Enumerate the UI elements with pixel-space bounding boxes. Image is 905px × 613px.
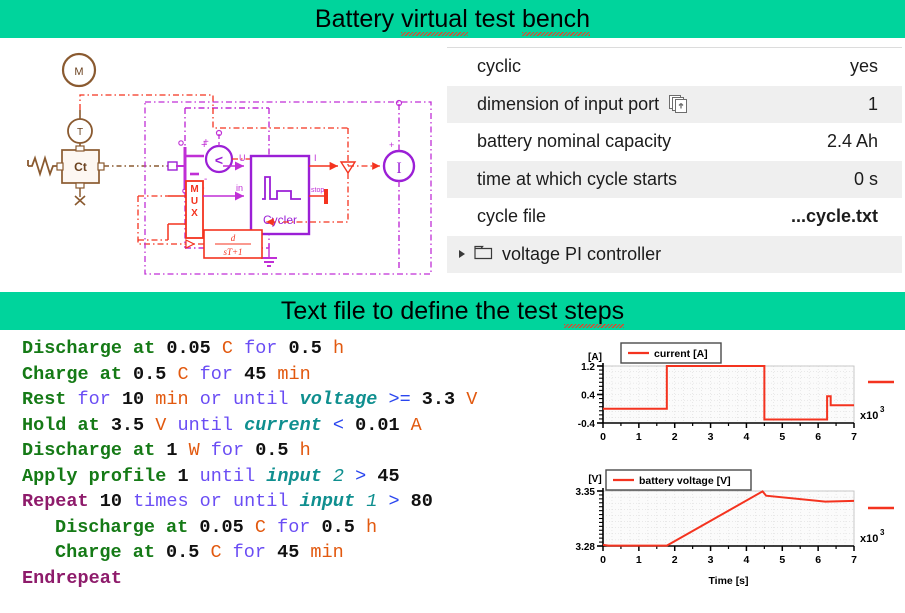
script-token [189, 466, 200, 487]
script-token: h [300, 440, 311, 461]
script-token: V [466, 389, 477, 410]
script-token: Discharge at [55, 517, 188, 538]
script-token [277, 338, 288, 359]
svg-text:T: T [77, 127, 83, 138]
x-tick-label: 6 [815, 554, 821, 566]
x-tick-label: 5 [779, 554, 785, 566]
script-token [177, 440, 188, 461]
prop-label: cyclic [477, 56, 850, 77]
ground-symbol [261, 258, 277, 266]
script-token: h [366, 517, 377, 538]
x-tick-label: 4 [744, 554, 750, 566]
script-token [155, 338, 166, 359]
script-token: 0.5 [166, 542, 199, 563]
script-token: Charge at [22, 364, 122, 385]
header-banner-top: Battery virtual test bench [0, 0, 905, 38]
prop-label: cycle file [477, 206, 791, 227]
script-token [244, 517, 255, 538]
script-token: Hold at [22, 415, 100, 436]
script-token: or until [200, 389, 289, 410]
script-token: min [277, 364, 310, 385]
section-title-misspelled-steps: steps [564, 297, 624, 326]
script-token: 1 [166, 440, 177, 461]
script-token: Apply profile [22, 466, 166, 487]
script-token [400, 415, 411, 436]
script-token [144, 415, 155, 436]
svg-text:-: - [204, 174, 207, 185]
script-token: 45 [244, 364, 266, 385]
test-script-text[interactable]: Discharge at 0.05 C for 0.5 hCharge at 0… [22, 336, 567, 591]
prop-value[interactable]: 2.4 Ah [827, 131, 878, 152]
y-axis-label: [A] [588, 352, 602, 363]
script-token: A [411, 415, 422, 436]
script-token: 10 [100, 491, 122, 512]
svg-text:sT+1: sT+1 [223, 247, 242, 257]
script-token [233, 415, 244, 436]
y-tick-label: 1.2 [581, 362, 595, 373]
table-row[interactable]: cycle file ...cycle.txt [447, 198, 902, 236]
script-token: 80 [411, 491, 433, 512]
svg-text:M: M [190, 184, 198, 195]
svg-text:Cycler: Cycler [263, 213, 297, 227]
prop-value[interactable]: 0 s [854, 169, 878, 190]
script-token: min [155, 389, 188, 410]
voltage-sensor-symbol[interactable]: < + - [203, 131, 256, 187]
svg-text:Ct: Ct [74, 160, 87, 174]
script-token: current [244, 415, 322, 436]
script-token [322, 466, 333, 487]
prop-value[interactable]: yes [850, 56, 878, 77]
prop-label: time at which cycle starts [477, 169, 854, 190]
tree-node-voltage-pi-controller[interactable]: voltage PI controller [447, 236, 902, 274]
script-token [122, 491, 133, 512]
copy-icon[interactable] [669, 95, 689, 114]
prop-label-text: cycle file [477, 206, 546, 227]
script-token [344, 466, 355, 487]
x-tick-label: 4 [744, 431, 750, 443]
script-token: 0.01 [355, 415, 399, 436]
prop-label-text: cyclic [477, 56, 521, 77]
script-token: 0.5 [255, 440, 288, 461]
script-token [155, 542, 166, 563]
table-row[interactable]: dimension of input port 1 [447, 86, 902, 124]
legend-label: battery voltage [V] [639, 475, 731, 487]
legend-label: current [A] [654, 348, 708, 360]
svg-text:U: U [239, 153, 246, 163]
x-tick-label: 7 [851, 431, 857, 443]
script-token [166, 364, 177, 385]
x-tick-label: 3 [708, 431, 714, 443]
script-token: 0.5 [289, 338, 322, 359]
script-token [188, 517, 199, 538]
page-title-misspelled-bench: bench [522, 5, 590, 34]
script-token: voltage [300, 389, 378, 410]
thermal-resistor-symbol [28, 158, 57, 174]
x-tick-label: 6 [815, 431, 821, 443]
script-token: 10 [122, 389, 144, 410]
script-token [289, 440, 300, 461]
script-token: for [277, 517, 310, 538]
y-axis-label: [V] [588, 474, 601, 485]
prop-label-text: time at which cycle starts [477, 169, 677, 190]
script-token [189, 364, 200, 385]
chart-legend[interactable]: battery voltage [V] [606, 470, 751, 490]
chart-current[interactable]: -0.40.41.201234567[A]x103current [A] [568, 338, 900, 456]
script-token: 3.3 [422, 389, 455, 410]
y-tick-label: 0.4 [581, 391, 595, 402]
x-axis-multiplier: x10 [860, 533, 878, 545]
x-tick-label: 1 [636, 554, 642, 566]
script-token [355, 491, 366, 512]
script-token [100, 415, 111, 436]
script-token: 0.5 [322, 517, 355, 538]
svg-text:stop: stop [311, 187, 324, 194]
script-token [89, 491, 100, 512]
prop-label-text: battery nominal capacity [477, 131, 671, 152]
script-line[interactable]: Endrepeat [22, 566, 567, 592]
script-token: input [300, 491, 356, 512]
script-token: 0.05 [199, 517, 243, 538]
script-token: 0.05 [166, 338, 210, 359]
script-token [199, 542, 210, 563]
section-title-part-a: Text file to define the test [281, 297, 565, 325]
script-token: until [177, 415, 233, 436]
script-token [244, 440, 255, 461]
script-token: Repeat [22, 491, 89, 512]
motor-symbol[interactable]: M [63, 54, 95, 86]
script-token: C [210, 542, 221, 563]
script-token: 1 [366, 491, 377, 512]
svg-text:d: d [231, 233, 236, 243]
script-line[interactable]: Charge at 0.5 C for 45 min [22, 540, 567, 566]
svg-text:I: I [314, 153, 317, 163]
y-tick-label: 3.35 [576, 487, 596, 498]
script-line[interactable]: Repeat 10 times or until input 1 > 80 [22, 489, 567, 515]
svg-text:M: M [74, 66, 83, 78]
script-token [189, 389, 200, 410]
x-tick-label: 2 [672, 554, 678, 566]
script-token: C [177, 364, 188, 385]
script-token: > [388, 491, 399, 512]
script-token [266, 364, 277, 385]
script-token: times or until [133, 491, 288, 512]
script-token: h [333, 338, 344, 359]
script-token [289, 491, 300, 512]
script-token [411, 389, 422, 410]
script-line[interactable]: Discharge at 0.05 C for 0.5 h [22, 515, 567, 541]
script-token: >= [388, 389, 410, 410]
script-token [111, 389, 122, 410]
script-token [377, 389, 388, 410]
script-token [144, 389, 155, 410]
script-token [455, 389, 466, 410]
script-token: C [222, 338, 233, 359]
script-token: C [255, 517, 266, 538]
script-token: until [200, 466, 256, 487]
mux-block[interactable]: M U X [138, 181, 203, 240]
x-axis-multiplier-exponent: 3 [880, 528, 885, 537]
header-banner-middle: Text file to define the test steps [0, 292, 905, 330]
script-token [66, 389, 77, 410]
page-title-part-c: test [468, 5, 522, 33]
svg-text:in: in [236, 183, 243, 193]
script-token: < [333, 415, 344, 436]
circuit-diagram[interactable]: M T Ct [8, 44, 446, 284]
prop-label: dimension of input port [477, 94, 868, 115]
script-token: for [233, 542, 266, 563]
x-tick-label: 0 [600, 554, 606, 566]
script-token [255, 466, 266, 487]
script-line[interactable]: Charge at 0.5 C for 45 min [22, 362, 567, 388]
x-axis-multiplier: x10 [860, 410, 878, 422]
script-token [400, 491, 411, 512]
prop-label: battery nominal capacity [477, 131, 827, 152]
prop-value[interactable]: ...cycle.txt [791, 206, 878, 227]
script-token [377, 491, 388, 512]
x-tick-label: 1 [636, 431, 642, 443]
current-source-symbol[interactable]: I + [384, 101, 414, 270]
script-token [299, 542, 310, 563]
svg-text:+: + [389, 140, 394, 150]
svg-text:+: + [203, 137, 209, 148]
script-token: 45 [377, 466, 399, 487]
script-line[interactable]: Rest for 10 min or until voltage >= 3.3 … [22, 387, 567, 413]
script-token: Discharge at [22, 338, 155, 359]
script-token: Discharge at [22, 440, 155, 461]
page-title-part-a: Battery [315, 5, 401, 33]
section-title: Text file to define the test steps [281, 297, 624, 326]
script-token: 45 [277, 542, 299, 563]
script-token [211, 338, 222, 359]
script-token [200, 440, 211, 461]
table-row[interactable]: cyclic yes [447, 48, 902, 86]
script-token: 0.5 [133, 364, 166, 385]
script-token: Rest [22, 389, 66, 410]
svg-text:<: < [215, 152, 223, 168]
svg-text:X: X [191, 208, 198, 219]
script-token: > [355, 466, 366, 487]
script-token: 2 [333, 466, 344, 487]
script-token: min [310, 542, 343, 563]
script-token [233, 364, 244, 385]
x-axis-multiplier-exponent: 3 [880, 405, 885, 414]
prop-label-text: dimension of input port [477, 94, 659, 115]
script-token [155, 440, 166, 461]
x-tick-label: 5 [779, 431, 785, 443]
script-line[interactable]: Hold at 3.5 V until current < 0.01 A [22, 413, 567, 439]
script-token [166, 415, 177, 436]
script-token [166, 466, 177, 487]
script-token: for [244, 338, 277, 359]
script-token [322, 338, 333, 359]
x-tick-label: 2 [672, 431, 678, 443]
script-token [266, 517, 277, 538]
script-line[interactable]: Discharge at 1 W for 0.5 h [22, 438, 567, 464]
script-token: for [211, 440, 244, 461]
screenshot-root: Battery virtual test bench M T Ct [0, 0, 905, 613]
script-token [266, 542, 277, 563]
script-token [289, 389, 300, 410]
script-token: 1 [177, 466, 188, 487]
script-token [366, 466, 377, 487]
chart-voltage[interactable]: 3.283.3501234567[V]x103Time [s]battery v… [568, 458, 900, 606]
script-token: input [266, 466, 322, 487]
page-title-misspelled-virtual: virtual [401, 5, 468, 34]
x-tick-label: 0 [600, 431, 606, 443]
script-token [222, 542, 233, 563]
script-token [233, 338, 244, 359]
script-line[interactable]: Apply profile 1 until input 2 > 45 [22, 464, 567, 490]
x-tick-label: 7 [851, 554, 857, 566]
prop-value[interactable]: 1 [868, 94, 878, 115]
y-tick-label: -0.4 [578, 419, 596, 430]
script-token: for [78, 389, 111, 410]
script-token: for [200, 364, 233, 385]
tree-node-label: voltage PI controller [502, 244, 661, 265]
table-row[interactable]: time at which cycle starts 0 s [447, 161, 902, 199]
page-title: Battery virtual test bench [315, 5, 590, 34]
script-token [344, 415, 355, 436]
chart-legend[interactable]: current [A] [621, 343, 721, 363]
script-token: W [189, 440, 200, 461]
svg-text:I: I [396, 160, 401, 177]
y-tick-label: 3.28 [576, 542, 596, 553]
ct-block[interactable]: Ct [57, 146, 104, 205]
script-token: Charge at [55, 542, 155, 563]
folder-icon [474, 244, 493, 265]
table-row[interactable]: battery nominal capacity 2.4 Ah [447, 123, 902, 161]
script-line[interactable]: Discharge at 0.05 C for 0.5 h [22, 336, 567, 362]
thermal-sensor-symbol[interactable]: T [68, 110, 92, 150]
script-token: Endrepeat [22, 568, 122, 589]
script-token: 3.5 [111, 415, 144, 436]
x-axis-label: Time [s] [708, 575, 748, 587]
x-tick-label: 3 [708, 554, 714, 566]
script-token [122, 364, 133, 385]
properties-table[interactable]: cyclic yes dimension of input port 1 bat… [447, 47, 902, 273]
script-token [355, 517, 366, 538]
svg-text:U: U [191, 196, 198, 207]
chevron-right-icon[interactable] [459, 250, 465, 258]
script-token: V [155, 415, 166, 436]
script-token [322, 415, 333, 436]
script-token [310, 517, 321, 538]
